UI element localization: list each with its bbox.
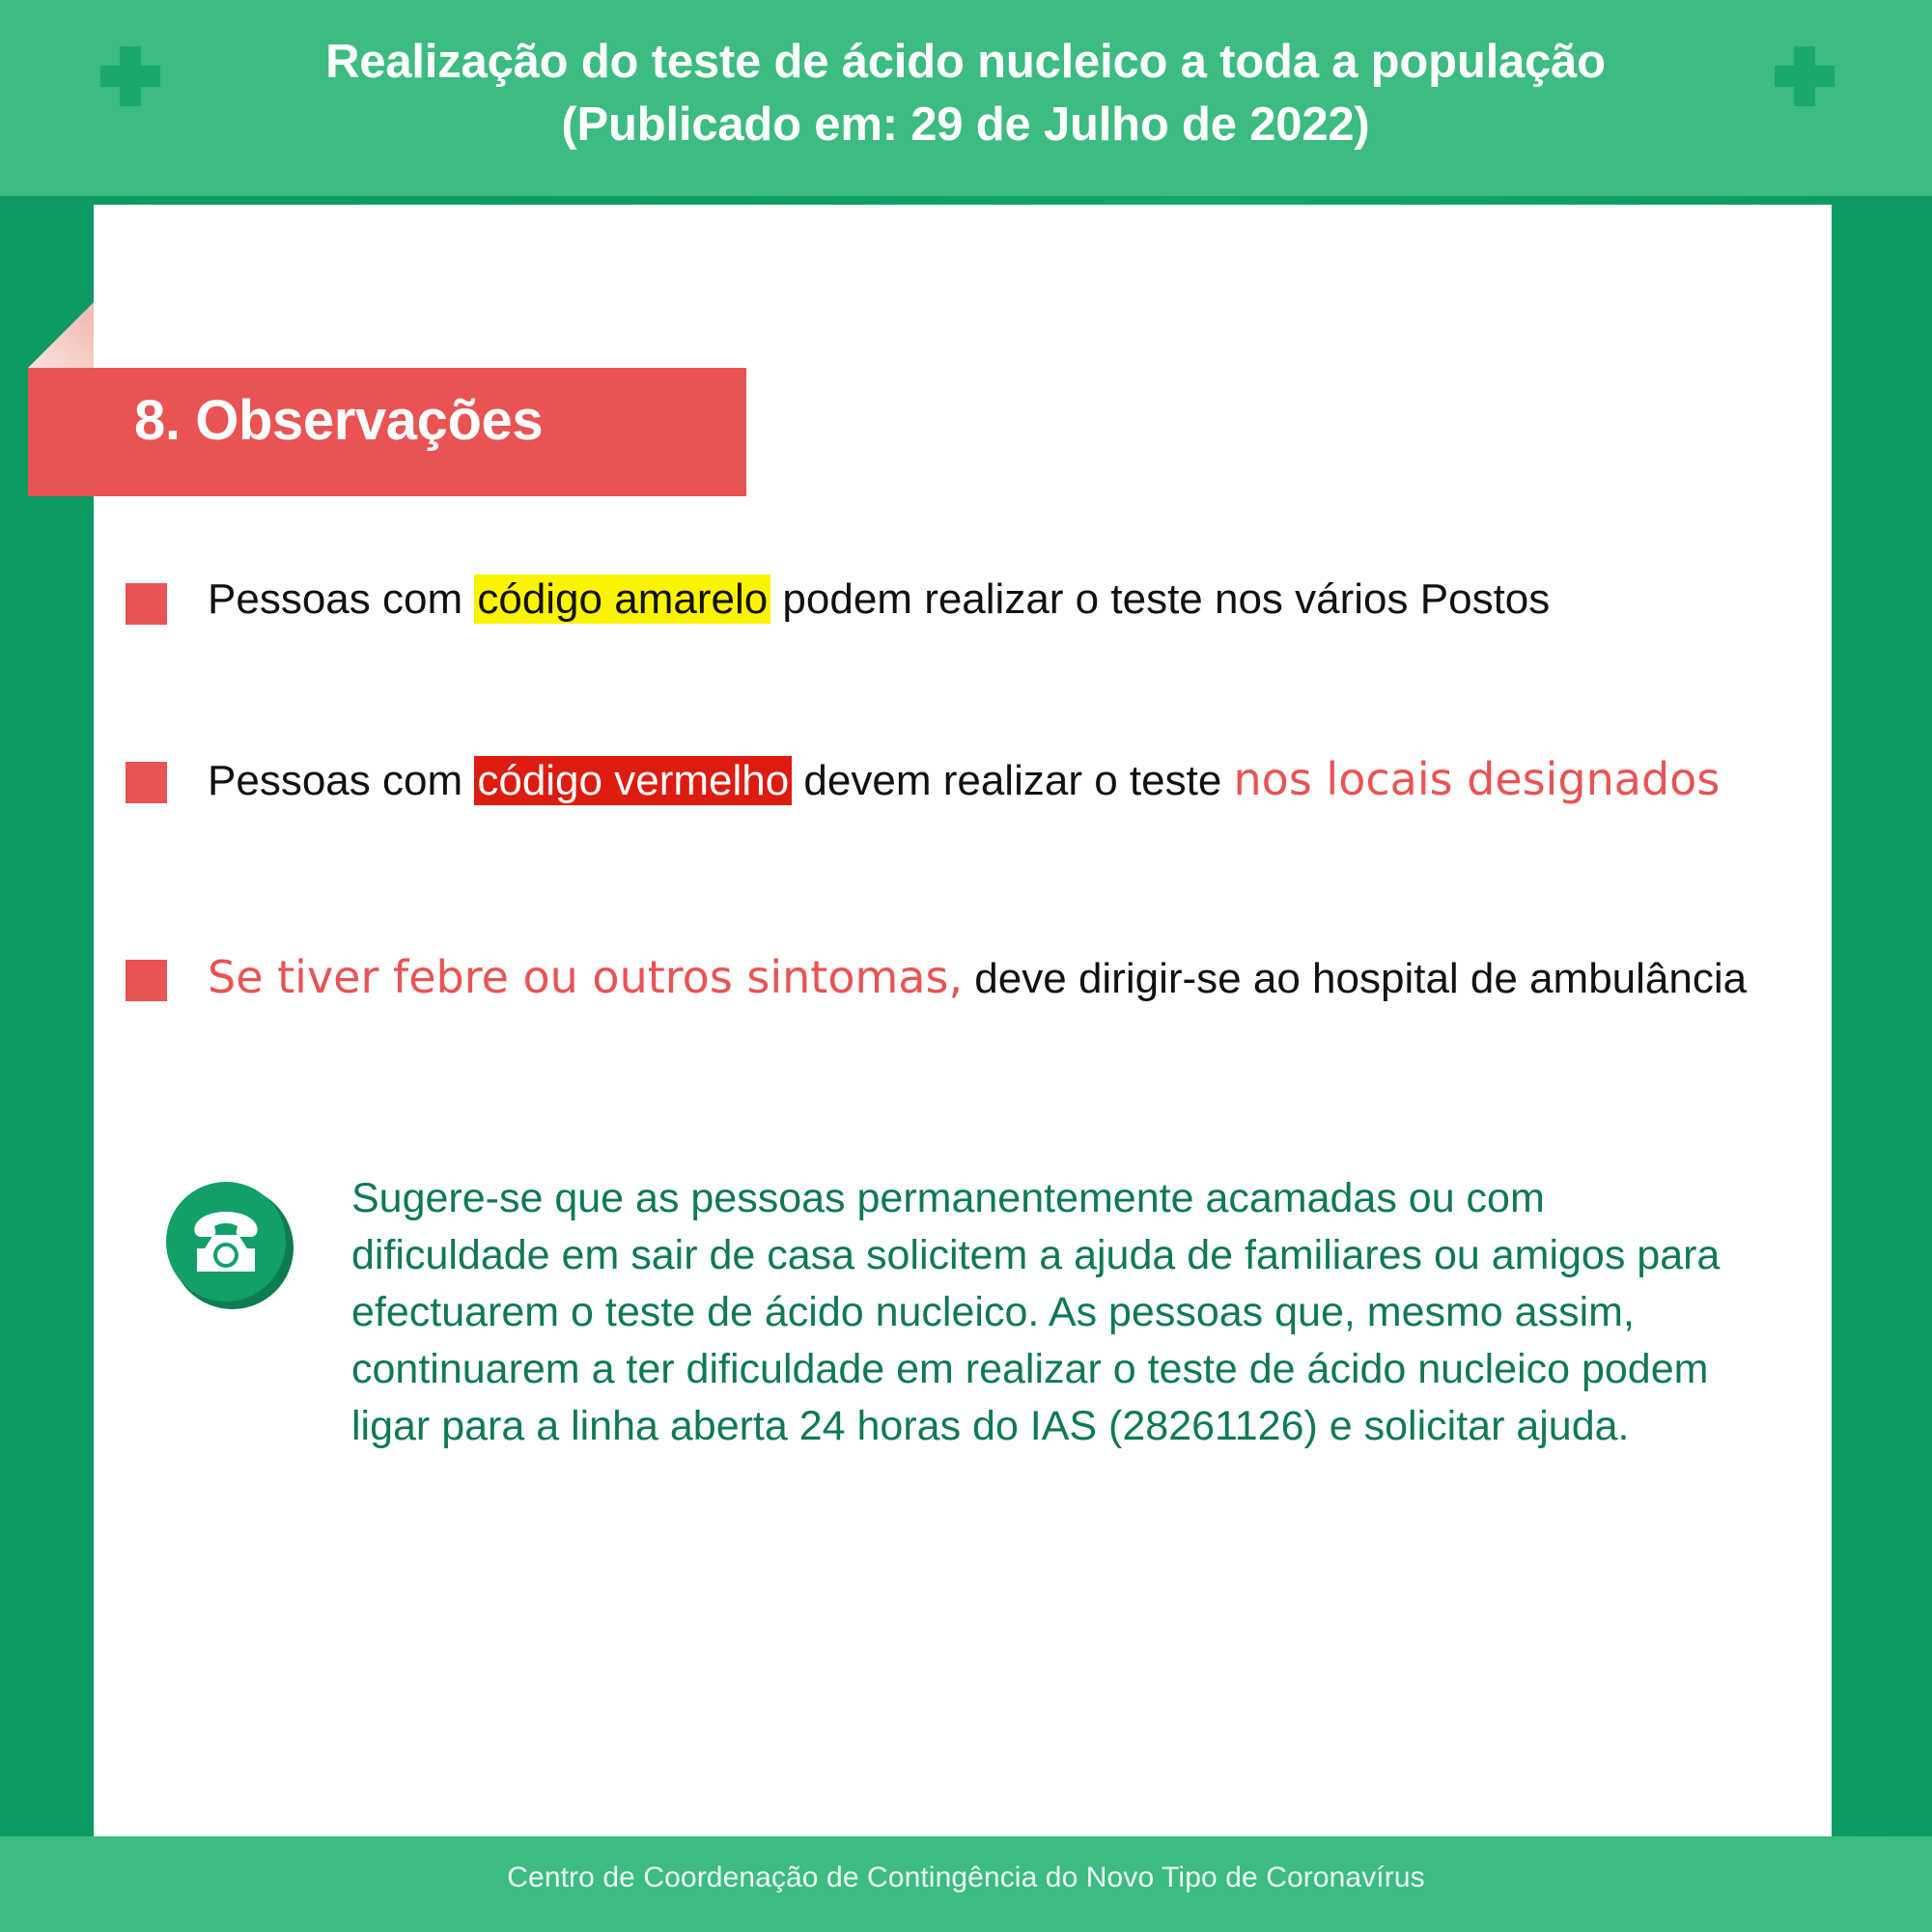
section-title: 8. Observações [134,393,543,449]
footer-text: Centro de Coordenação de Contingência do… [0,1862,1932,1894]
infographic-poster: Realização do teste de ácido nucleico a … [0,0,1932,1932]
page-title-line2: (Publicado em: 29 de Julho de 2022) [164,94,1767,156]
bullet1-segment-3: podem realizar o teste nos vários Postos [770,575,1550,623]
telephone-icon [166,1182,294,1309]
bullet2-emphasis: nos locais designados [1234,753,1721,805]
telephone-glyph [187,1212,265,1272]
list-item-text: Pessoas com código amarelo podem realiza… [208,574,1786,625]
list-item-text: Se tiver febre ou outros sintomas, deve … [208,951,1786,1004]
square-bullet-icon [126,762,167,803]
page-title: Realização do teste de ácido nucleico a … [164,31,1767,156]
bullet2-highlight-red: código vermelho [474,756,792,805]
bullet3-segment-2: deve dirigir-se ao hospital de ambulânci… [963,955,1747,1002]
medical-cross-icon [100,46,160,106]
list-item: Pessoas com código amarelo podem realiza… [126,574,1786,625]
note-text: Sugere-se que as pessoas permanentemente… [351,1170,1750,1455]
page-title-line1: Realização do teste de ácido nucleico a … [325,36,1606,88]
list-item: Se tiver febre ou outros sintomas, deve … [126,951,1786,1004]
list-item: Pessoas com código vermelho devem realiz… [126,753,1786,806]
telephone-icon-circle [166,1182,286,1302]
bullet2-segment-1: Pessoas com [208,757,474,804]
bullet1-highlight-yellow: código amarelo [474,574,770,624]
medical-cross-icon [1775,46,1834,106]
header-banner: Realização do teste de ácido nucleico a … [0,0,1932,196]
bullet1-segment-1: Pessoas com [208,575,474,623]
footer-banner: Centro de Coordenação de Contingência do… [0,1836,1932,1932]
bullet2-segment-3: devem realizar o teste [792,757,1233,804]
square-bullet-icon [126,583,167,625]
note-block: Sugere-se que as pessoas permanentemente… [166,1170,1750,1455]
square-bullet-icon [126,960,167,1001]
section-ribbon: 8. Observações [28,368,746,496]
list-item-text: Pessoas com código vermelho devem realiz… [208,753,1786,806]
bullet3-emphasis: Se tiver febre ou outros sintomas, [208,951,963,1003]
